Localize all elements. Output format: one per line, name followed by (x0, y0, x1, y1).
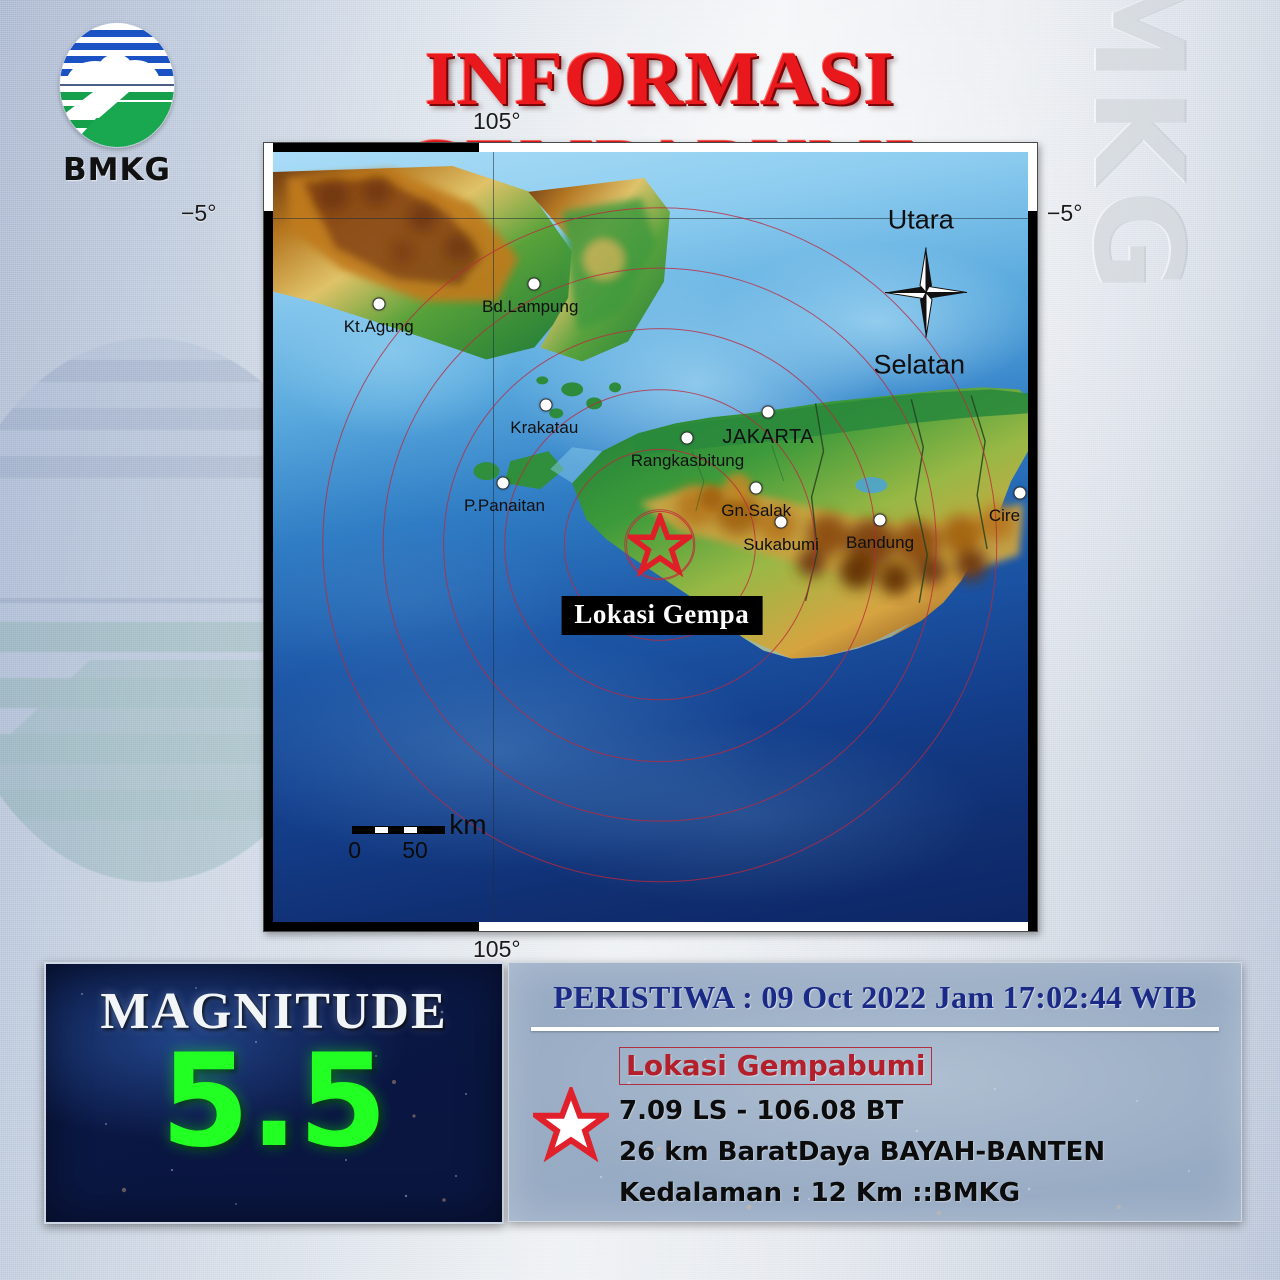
map-axis-label-bottom: 105° (473, 936, 521, 963)
city-label: P.Panaitan (464, 496, 545, 516)
city-label: Bd.Lampung (482, 297, 578, 317)
city-label: Kt.Agung (344, 317, 414, 337)
graticule-meridian (493, 152, 494, 922)
map-scale-bar: km 0 50 (352, 826, 445, 834)
city-dot-icon (1014, 487, 1027, 500)
city-label: Sukabumi (743, 535, 819, 555)
map-frame-tick-right (1028, 143, 1037, 931)
bmkg-logo-label: BMKG (42, 152, 192, 188)
compass-rose-icon (883, 246, 969, 345)
city-label: Bandung (846, 533, 914, 553)
bmkg-logo-icon (59, 22, 175, 148)
city-label: Cire (989, 506, 1020, 526)
magnitude-panel: MAGNITUDE 5.5 (44, 962, 504, 1224)
event-depth: Kedalaman : 12 Km ::BMKG (619, 1178, 1241, 1208)
event-info-panel: PERISTIWA : 09 Oct 2022 Jam 17:02:44 WIB… (508, 962, 1242, 1222)
location-heading: Lokasi Gempabumi (619, 1047, 932, 1085)
event-text-block: Lokasi Gempabumi 7.09 LS - 106.08 BT 26 … (617, 1047, 1241, 1208)
panel-divider (531, 1027, 1219, 1031)
city-dot-icon (540, 398, 553, 411)
map-canvas: Kt.AgungBd.LampungKrakatauJAKARTARangkas… (273, 152, 1028, 922)
bmkg-logo-block: BMKG (42, 22, 192, 188)
city-label: Rangkasbitung (631, 451, 744, 471)
earthquake-map: 105° 105° −5° −5° (263, 142, 1038, 932)
event-star-icon-wrap (525, 1047, 617, 1163)
city-dot-icon (681, 432, 694, 445)
red-star-icon (533, 1087, 609, 1163)
city-label: Krakatau (510, 418, 578, 438)
epicenter-star-icon (628, 513, 692, 577)
map-frame: Kt.AgungBd.LampungKrakatauJAKARTARangkas… (263, 142, 1038, 932)
event-datetime: PERISTIWA : 09 Oct 2022 Jam 17:02:44 WIB (509, 963, 1241, 1016)
city-dot-icon (372, 298, 385, 311)
city-dot-icon (762, 406, 775, 419)
scale-end-label: 50 (402, 837, 428, 864)
map-axis-label-left: −5° (181, 200, 216, 227)
city-dot-icon (874, 514, 887, 527)
city-dot-icon (750, 481, 763, 494)
magnitude-value: 5.5 (46, 1035, 502, 1169)
map-axis-label-top: 105° (473, 108, 521, 135)
event-coordinates: 7.09 LS - 106.08 BT (619, 1096, 1241, 1126)
scale-bar-graphic (352, 826, 445, 834)
map-axis-label-right: −5° (1047, 200, 1082, 227)
city-dot-icon (775, 515, 788, 528)
event-place: 26 km BaratDaya BAYAH-BANTEN (619, 1137, 1241, 1167)
scale-unit-label: km (449, 809, 486, 841)
map-frame-tick-top (264, 143, 1037, 152)
city-dot-icon (496, 477, 509, 490)
north-direction-label: Utara (888, 204, 954, 235)
map-frame-tick-left (264, 143, 273, 931)
south-direction-label: Selatan (873, 349, 965, 380)
map-frame-tick-bottom (264, 922, 1037, 931)
city-dot-icon (528, 278, 541, 291)
scale-start-label: 0 (348, 837, 361, 864)
event-details: Lokasi Gempabumi 7.09 LS - 106.08 BT 26 … (509, 1047, 1241, 1208)
city-label: JAKARTA (722, 426, 814, 449)
epicenter-label: Lokasi Gempa (561, 596, 762, 635)
